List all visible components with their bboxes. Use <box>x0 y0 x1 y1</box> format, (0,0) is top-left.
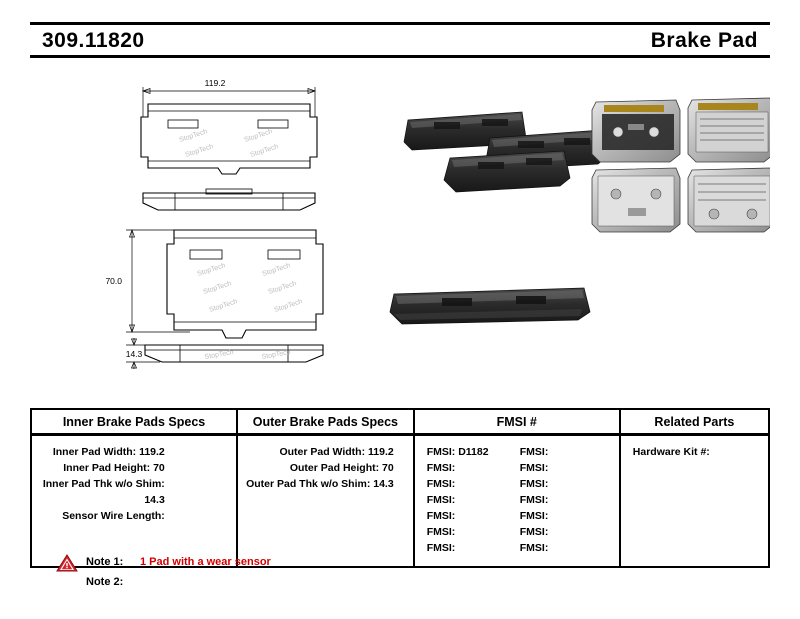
notes-block: Note 1: 1 Pad with a wear sensor Note 2: <box>56 552 556 592</box>
specifications-table: Inner Brake Pads Specs Outer Brake Pads … <box>30 408 770 568</box>
note-2-row: Note 2: <box>86 572 556 592</box>
pad-side-photo <box>390 288 590 324</box>
fmsi-row: FMSI: <box>520 508 613 524</box>
warning-icon <box>56 554 78 572</box>
note-1-row: Note 1: 1 Pad with a wear sensor <box>86 552 556 572</box>
fmsi-column-left: FMSI: D1182 FMSI: FMSI: FMSI: FMSI: FMSI… <box>427 444 520 556</box>
fmsi-column-right: FMSI: FMSI: FMSI: FMSI: FMSI: FMSI: FMSI… <box>520 444 613 556</box>
header-outer-specs: Outer Brake Pads Specs <box>238 410 415 433</box>
shim-photo-group <box>592 98 770 232</box>
pad-edge-view-bottom: 14.3 StopTech StopTech <box>126 338 323 369</box>
fmsi-row: FMSI: <box>520 444 613 460</box>
pad-front-view-bottom: 70.0 StopTech StopTech StopTech StopTech… <box>105 230 323 338</box>
pad-edge-view-top <box>143 189 315 210</box>
outer-specs-cell: Outer Pad Width: 119.2 Outer Pad Height:… <box>238 436 415 566</box>
fmsi-row: FMSI: <box>427 508 520 524</box>
outer-spec-row: Outer Pad Thk w/o Shim: 14.3 <box>244 476 407 492</box>
pad-front-view-top: 119.2 StopTech StopTech StopTech StopTec… <box>141 78 317 174</box>
note-1-label: Note 1: <box>86 556 140 568</box>
inner-spec-row: Inner Pad Height: 70 <box>38 460 230 476</box>
fmsi-row: FMSI: <box>520 492 613 508</box>
outer-spec-row: Outer Pad Height: 70 <box>244 460 407 476</box>
inner-spec-row: Inner Pad Thk w/o Shim: 14.3 <box>38 476 230 508</box>
header-related-parts: Related Parts <box>621 410 768 433</box>
svg-text:119.2: 119.2 <box>205 78 226 88</box>
fmsi-grid: FMSI: D1182 FMSI: FMSI: FMSI: FMSI: FMSI… <box>421 444 613 556</box>
svg-text:14.3: 14.3 <box>126 349 143 359</box>
fmsi-row: FMSI: <box>520 524 613 540</box>
fmsi-cell: FMSI: D1182 FMSI: FMSI: FMSI: FMSI: FMSI… <box>415 436 621 566</box>
part-number: 309.11820 <box>42 29 145 53</box>
product-spec-sheet: 309.11820 Brake Pad <box>0 0 800 619</box>
header-fmsi: FMSI # <box>415 410 621 433</box>
table-body-row: Inner Pad Width: 119.2 Inner Pad Height:… <box>32 436 768 566</box>
technical-drawing-svg: 119.2 StopTech StopTech StopTech StopTec… <box>30 62 770 392</box>
page-title: Brake Pad <box>651 29 758 53</box>
fmsi-row: FMSI: <box>520 460 613 476</box>
pad-photo-group <box>404 112 608 192</box>
inner-spec-row: Sensor Wire Length: <box>38 508 230 524</box>
fmsi-row: FMSI: <box>427 460 520 476</box>
inner-specs-cell: Inner Pad Width: 119.2 Inner Pad Height:… <box>32 436 238 566</box>
svg-text:70.0: 70.0 <box>105 276 122 286</box>
note-1-value: 1 Pad with a wear sensor <box>140 556 271 568</box>
fmsi-row: FMSI: <box>427 492 520 508</box>
fmsi-row: FMSI: <box>520 476 613 492</box>
fmsi-row: FMSI: <box>427 476 520 492</box>
inner-spec-row: Inner Pad Width: 119.2 <box>38 444 230 460</box>
notes-section: Note 1: 1 Pad with a wear sensor Note 2: <box>56 552 556 592</box>
header-bar: 309.11820 Brake Pad <box>30 22 770 58</box>
header-inner-specs: Inner Brake Pads Specs <box>32 410 238 433</box>
fmsi-row: FMSI: <box>427 524 520 540</box>
related-parts-cell: Hardware Kit #: <box>621 436 768 566</box>
drawing-area: 119.2 StopTech StopTech StopTech StopTec… <box>30 62 770 392</box>
related-part-row: Hardware Kit #: <box>627 444 762 460</box>
outer-spec-row: Outer Pad Width: 119.2 <box>244 444 407 460</box>
fmsi-row: FMSI: D1182 <box>427 444 520 460</box>
table-header-row: Inner Brake Pads Specs Outer Brake Pads … <box>32 410 768 436</box>
note-2-label: Note 2: <box>86 576 140 588</box>
